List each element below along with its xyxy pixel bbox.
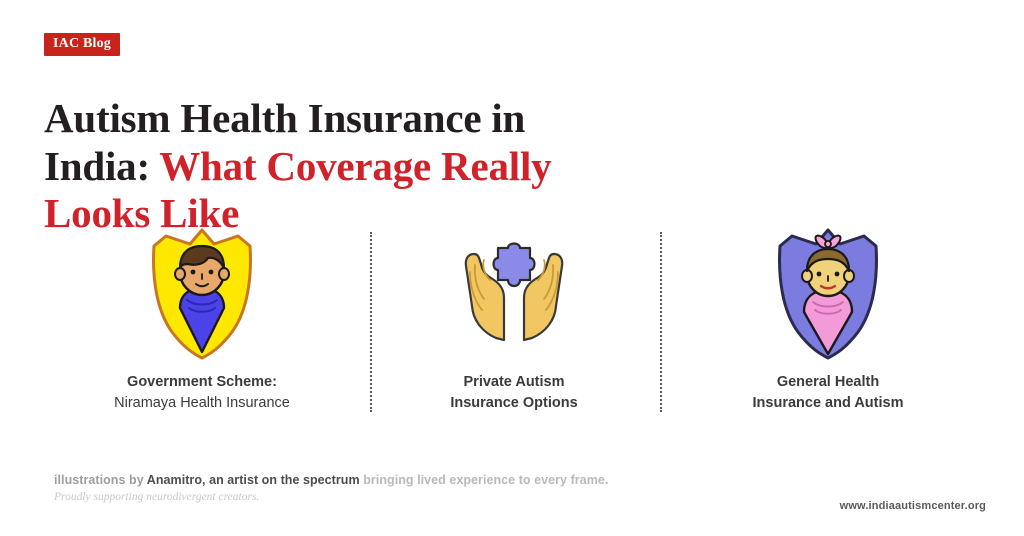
column-private-insurance: Private Autism Insurance Options [364, 222, 664, 422]
hands-holding-puzzle-piece-icon [364, 222, 664, 362]
caption-general-health: General Health Insurance and Autism [678, 372, 978, 414]
headline-line-1: Autism Health Insurance in [44, 95, 525, 141]
illustration-credit: illustrations by Anamitro, an artist on … [54, 473, 608, 487]
headline-line-2-accent: What Coverage Really [159, 143, 551, 189]
caption-government-scheme: Government Scheme: Niramaya Health Insur… [52, 372, 352, 414]
caption-line-2: Niramaya Health Insurance [52, 393, 352, 414]
shield-with-boy-icon [52, 222, 352, 362]
caption-line-2: Insurance Options [364, 393, 664, 414]
credit-subnote: Proudly supporting neurodivergent creato… [54, 491, 259, 503]
illustration-columns: Government Scheme: Niramaya Health Insur… [0, 222, 1024, 422]
credit-lead-text: illustrations by [54, 473, 147, 487]
column-general-health: General Health Insurance and Autism [678, 222, 978, 422]
credit-tail-text: bringing lived experience to every frame… [360, 473, 609, 487]
shield-with-girl-icon [678, 222, 978, 362]
caption-line-1: General Health [678, 372, 978, 393]
column-government-scheme: Government Scheme: Niramaya Health Insur… [52, 222, 352, 422]
credit-artist-name: Anamitro, an artist on the spectrum [147, 473, 360, 487]
caption-line-2: Insurance and Autism [678, 393, 978, 414]
headline-line-2-dark: India: [44, 143, 150, 189]
site-url: www.indiaautismcenter.org [840, 500, 986, 512]
iac-blog-badge: IAC Blog [44, 33, 120, 56]
caption-private-insurance: Private Autism Insurance Options [364, 372, 664, 414]
caption-line-1: Private Autism [364, 372, 664, 393]
caption-line-1: Government Scheme: [52, 372, 352, 393]
page-title: Autism Health Insurance in India: What C… [44, 95, 664, 236]
